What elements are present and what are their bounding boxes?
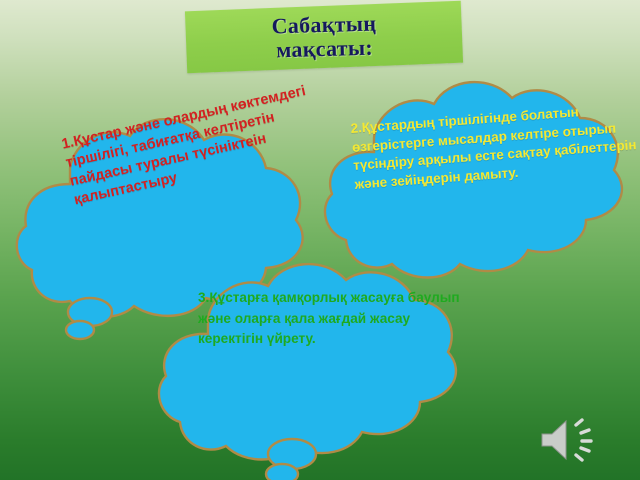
slide-canvas: Сабақтың мақсаты: 1.Құстар және олардың … <box>0 0 640 480</box>
title-banner: Сабақтың мақсаты: <box>185 1 463 74</box>
cloud-tail-medium-1 <box>66 321 94 339</box>
page-title: Сабақтың мақсаты: <box>271 12 377 62</box>
speaker-icon-glyph <box>538 416 600 464</box>
cloud-3-text: 3.Құстарға қамқорлық жасауға баулып және… <box>198 288 468 350</box>
cloud-tail-medium-3 <box>266 464 298 480</box>
thought-cloud-2[interactable]: 2.Құстардың тіршілігінде болатын өзгеріс… <box>318 78 640 278</box>
speaker-icon[interactable] <box>538 416 600 464</box>
thought-cloud-3[interactable]: 3.Құстарға қамқорлық жасауға баулып және… <box>150 258 480 468</box>
